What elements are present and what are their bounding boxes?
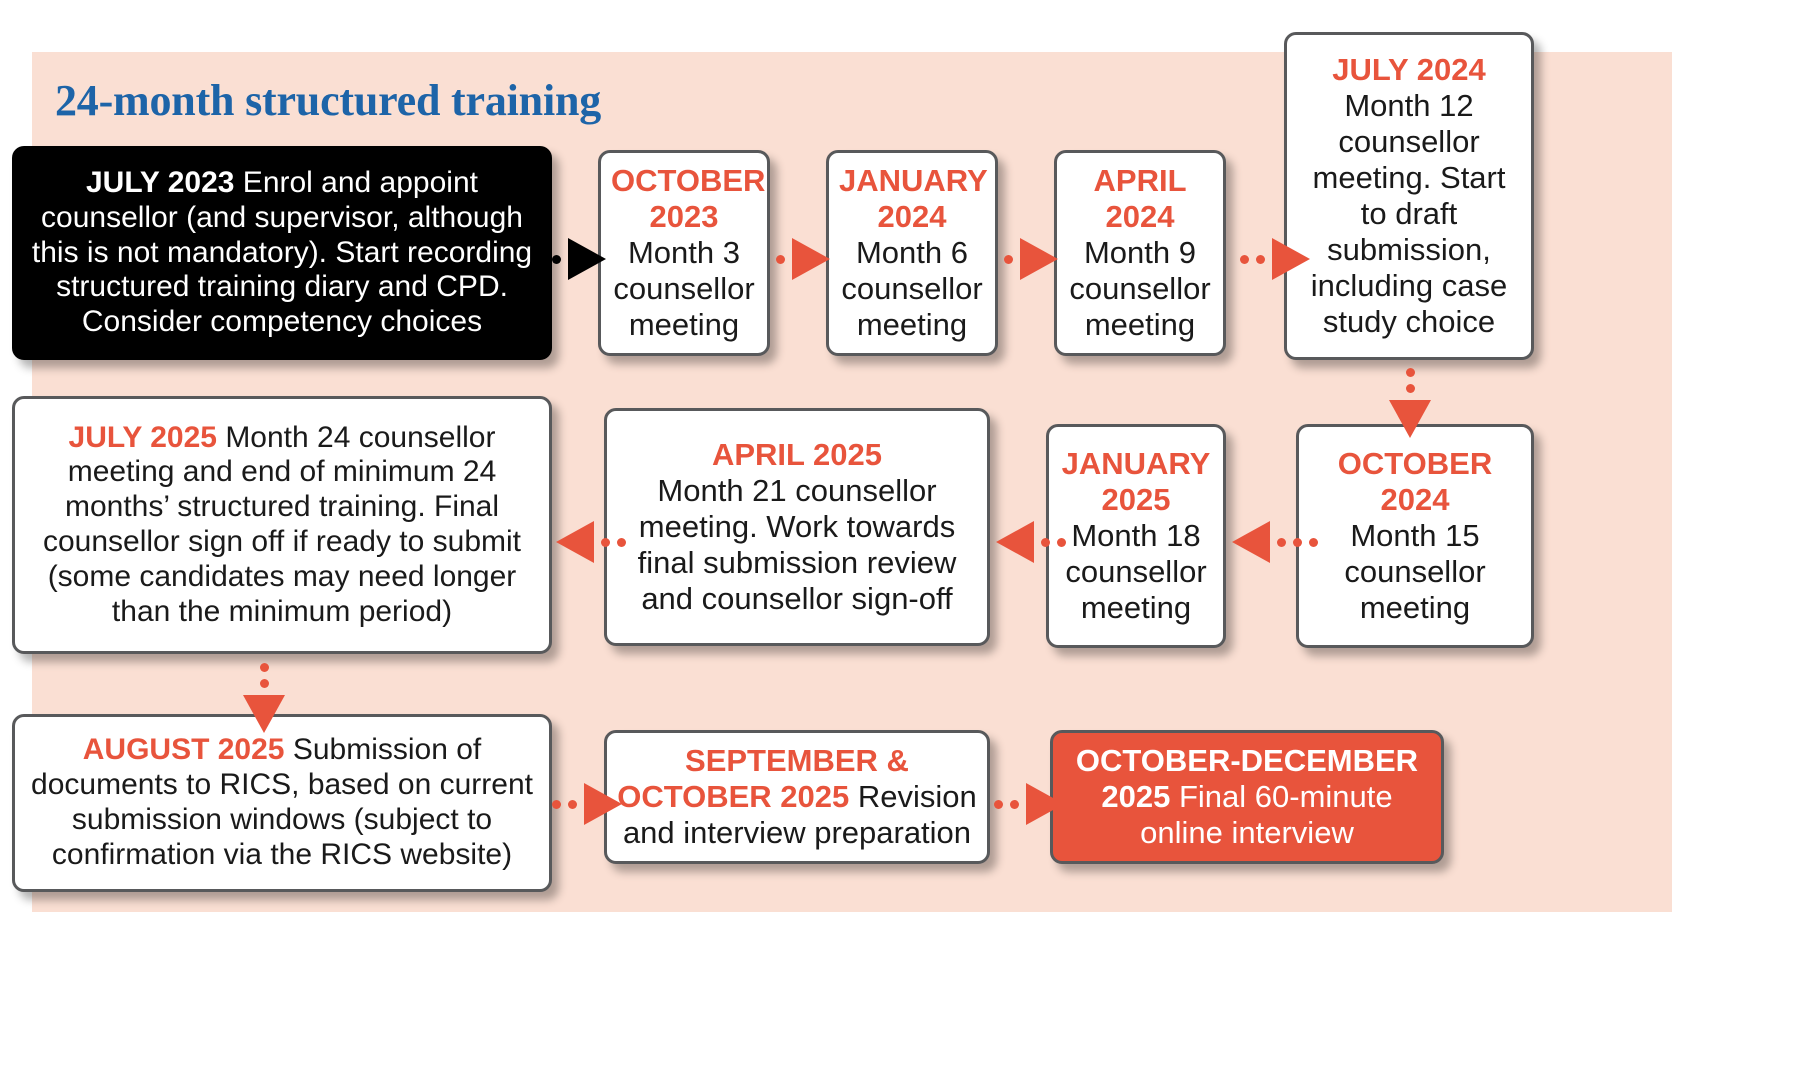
arrow-jan2025-to-apr2025	[996, 521, 1066, 563]
arrow-dot	[1309, 538, 1318, 547]
node-april-2025-date: APRIL 2025	[712, 437, 882, 472]
arrow-dot	[1406, 368, 1415, 377]
arrow-head-right-icon	[568, 238, 606, 280]
arrow-dot	[994, 800, 1003, 809]
arrow-dot	[1277, 538, 1286, 547]
arrow-head-right-icon	[584, 783, 622, 825]
arrow-dot	[260, 679, 269, 688]
node-july-2023: JULY 2023 Enrol and appoint counsellor (…	[12, 146, 552, 360]
node-july-2024-date: JULY 2024	[1332, 52, 1485, 87]
node-october-2023-body: Month 3 counsellor meeting	[613, 235, 754, 342]
arrow-dot	[552, 255, 561, 264]
arrow-dot	[552, 800, 561, 809]
arrow-head-left-icon	[996, 521, 1034, 563]
node-august-2025-date: AUGUST 2025	[83, 733, 285, 766]
arrow-oct2024-to-jan2025	[1232, 521, 1318, 563]
arrow-dot	[1293, 538, 1302, 547]
arrow-dot	[617, 538, 626, 547]
node-october-december-2025: OCTOBER-DECEMBER 2025 Final 60-minute on…	[1050, 730, 1444, 864]
arrow-dot	[1256, 255, 1265, 264]
node-july-2025: JULY 2025 Month 24 counsellor meeting an…	[12, 396, 552, 654]
arrow-head-right-icon	[1020, 238, 1058, 280]
node-july-2024: JULY 2024 Month 12 counsellor meeting. S…	[1284, 32, 1534, 360]
node-september-october-2025: SEPTEMBER & OCTOBER 2025 Revision and in…	[604, 730, 990, 864]
node-october-2023-date: OCTOBER 2023	[611, 163, 765, 234]
node-april-2024-body: Month 9 counsellor meeting	[1069, 235, 1210, 342]
node-january-2025-body: Month 18 counsellor meeting	[1065, 518, 1206, 625]
node-july-2023-date: JULY 2023	[86, 166, 234, 199]
node-april-2024: APRIL 2024 Month 9 counsellor meeting	[1054, 150, 1226, 356]
arrow-head-right-icon	[1026, 783, 1064, 825]
arrow-head-right-icon	[1272, 238, 1310, 280]
node-april-2025: APRIL 2025 Month 21 counsellor meeting. …	[604, 408, 990, 646]
node-july-2025-date: JULY 2025	[69, 421, 217, 454]
arrow-head-right-icon	[792, 238, 830, 280]
node-october-2024: OCTOBER 2024 Month 15 counsellor meeting	[1296, 424, 1534, 648]
node-october-2024-body: Month 15 counsellor meeting	[1344, 518, 1485, 625]
arrow-apr2025-to-jul2025	[556, 521, 626, 563]
arrow-jul2023-to-oct2023	[552, 238, 606, 280]
arrow-dot	[1240, 255, 1249, 264]
arrow-dot	[568, 800, 577, 809]
arrow-dot	[601, 538, 610, 547]
node-october-2024-date: OCTOBER 2024	[1338, 446, 1492, 517]
arrow-dot	[1057, 538, 1066, 547]
arrow-head-down-icon	[1389, 400, 1431, 438]
arrow-jan2024-to-apr2024	[1004, 238, 1058, 280]
arrow-dot	[1010, 800, 1019, 809]
arrow-dot	[260, 663, 269, 672]
arrow-aug2025-to-sepoct2025	[552, 783, 622, 825]
node-july-2024-body: Month 12 counsellor meeting. Start to dr…	[1311, 88, 1507, 339]
arrow-head-left-icon	[556, 521, 594, 563]
node-january-2024-date: JANUARY 2024	[839, 163, 988, 234]
timeline-diagram: 24-month structured training JULY 2023 E…	[0, 0, 1800, 1086]
arrow-jul2025-to-aug2025	[243, 663, 285, 733]
node-october-december-2025-body: Final 60-minute online interview	[1140, 779, 1392, 850]
node-april-2025-body: Month 21 counsellor meeting. Work toward…	[638, 473, 957, 616]
arrow-dot	[776, 255, 785, 264]
node-january-2025: JANUARY 2025 Month 18 counsellor meeting	[1046, 424, 1226, 648]
node-january-2024: JANUARY 2024 Month 6 counsellor meeting	[826, 150, 998, 356]
arrow-head-down-icon	[243, 695, 285, 733]
arrow-dot	[1406, 384, 1415, 393]
arrow-dot	[1041, 538, 1050, 547]
node-january-2025-date: JANUARY 2025	[1062, 446, 1211, 517]
arrow-head-left-icon	[1232, 521, 1270, 563]
arrow-oct2023-to-jan2024	[776, 238, 830, 280]
node-january-2024-body: Month 6 counsellor meeting	[841, 235, 982, 342]
node-april-2024-date: APRIL 2024	[1094, 163, 1187, 234]
arrow-dot	[1004, 255, 1013, 264]
page-title: 24-month structured training	[55, 75, 601, 126]
node-august-2025: AUGUST 2025 Submission of documents to R…	[12, 714, 552, 892]
arrow-apr2024-to-jul2024	[1240, 238, 1310, 280]
arrow-jul2024-to-oct2024	[1389, 368, 1431, 438]
node-october-2023: OCTOBER 2023 Month 3 counsellor meeting	[598, 150, 770, 356]
arrow-sepoct2025-to-octdec2025	[994, 783, 1064, 825]
